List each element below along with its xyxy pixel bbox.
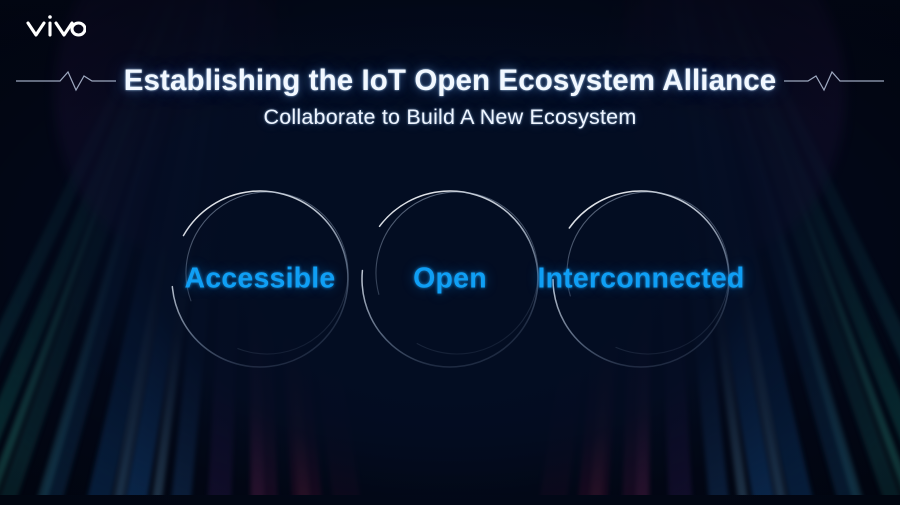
page-title: Establishing the IoT Open Ecosystem Alli…: [116, 64, 784, 98]
pulse-wave-line-icon: [16, 66, 116, 96]
pillar-label-open: Open: [413, 263, 487, 296]
pillar-label-accessible: Accessible: [185, 263, 336, 296]
vivo-logo: [26, 13, 86, 44]
pulse-wave-line-icon: [784, 66, 884, 96]
vivo-logo-icon: [26, 13, 86, 39]
vivo-logo-dot: [48, 15, 52, 19]
slide-canvas: Establishing the IoT Open Ecosystem Alli…: [0, 0, 900, 505]
title-row: Establishing the IoT Open Ecosystem Alli…: [0, 64, 900, 98]
pillar-label-interconnected: Interconnected: [537, 263, 744, 296]
page-subtitle: Collaborate to Build A New Ecosystem: [0, 105, 900, 130]
